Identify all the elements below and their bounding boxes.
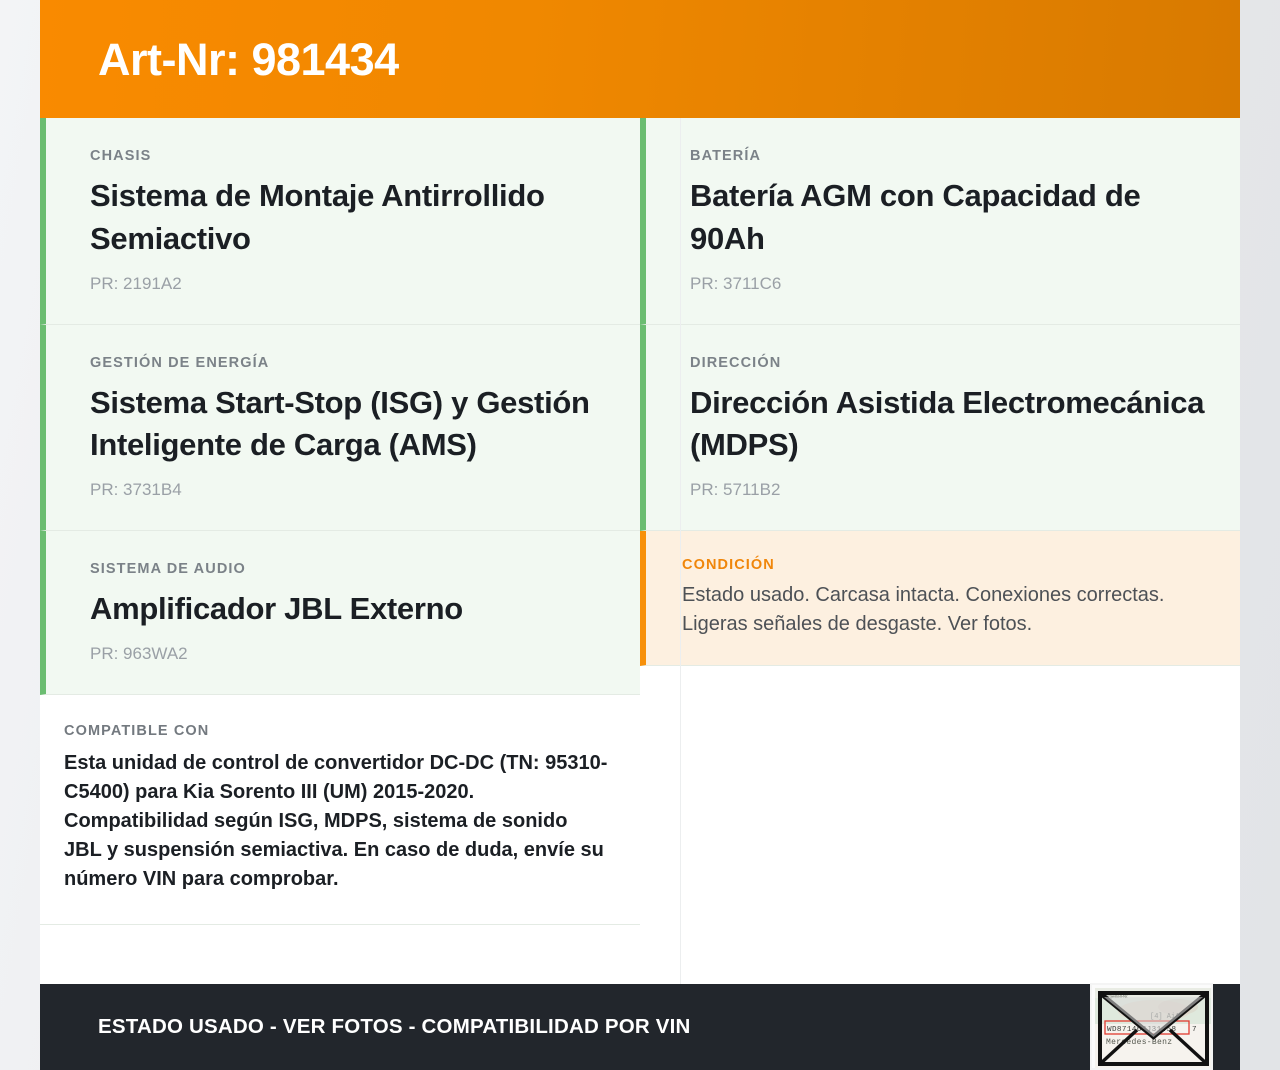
compatible-with-card[interactable]: COMPATIBLE CON Esta unidad de control de… <box>40 695 640 925</box>
spec-card-direccion[interactable]: DIRECCIÓN Dirección Asistida Electromecá… <box>640 325 1240 532</box>
footer-bar: ESTADO USADO - VER FOTOS - COMPATIBILIDA… <box>40 984 1240 1070</box>
footer-text: ESTADO USADO - VER FOTOS - COMPATIBILIDA… <box>98 1015 691 1039</box>
spec-title: Sistema de Montaje Antirrollido Semiacti… <box>90 175 606 261</box>
spec-title: Amplificador JBL Externo <box>90 588 606 631</box>
spec-label: DIRECCIÓN <box>690 355 1206 371</box>
spec-card-gestion-de-energia[interactable]: GESTIÓN DE ENERGÍA Sistema Start-Stop (I… <box>40 325 640 532</box>
spec-pr-code: PR: 5711B2 <box>690 480 1206 500</box>
condition-label: CONDICIÓN <box>682 557 1206 573</box>
spec-title: Sistema Start-Stop (ISG) y Gestión Intel… <box>90 382 606 468</box>
page-title: Art-Nr: 981434 <box>98 37 399 82</box>
condition-text: Estado usado. Carcasa intacta. Conexione… <box>682 581 1206 639</box>
spec-column-right: BATERÍA Batería AGM con Capacidad de 90A… <box>640 118 1240 666</box>
envelope-icon[interactable]: Fahrgestell-Nr. [4] AiA WD871463J31458 7… <box>1090 983 1213 1070</box>
spec-pr-code: PR: 963WA2 <box>90 644 606 664</box>
column-divider <box>680 118 681 984</box>
spec-grid: CHASIS Sistema de Montaje Antirrollido S… <box>40 118 1240 925</box>
spec-label: GESTIÓN DE ENERGÍA <box>90 355 606 371</box>
header-bar: Art-Nr: 981434 <box>40 0 1240 118</box>
spec-label: CHASIS <box>90 148 606 164</box>
spec-card-sistema-de-audio[interactable]: SISTEMA DE AUDIO Amplificador JBL Extern… <box>40 531 640 695</box>
spec-column-left: CHASIS Sistema de Montaje Antirrollido S… <box>40 118 640 925</box>
spec-label: SISTEMA DE AUDIO <box>90 561 606 577</box>
compatible-with-text: Esta unidad de control de convertidor DC… <box>64 749 610 894</box>
spec-label: BATERÍA <box>690 148 1206 164</box>
spec-pr-code: PR: 2191A2 <box>90 274 606 294</box>
spec-pr-code: PR: 3711C6 <box>690 274 1206 294</box>
spec-card-chasis[interactable]: CHASIS Sistema de Montaje Antirrollido S… <box>40 118 640 325</box>
listing-sheet: Art-Nr: 981434 CHASIS Sistema de Montaje… <box>40 0 1240 1070</box>
compatible-with-label: COMPATIBLE CON <box>64 723 610 739</box>
spec-card-bateria[interactable]: BATERÍA Batería AGM con Capacidad de 90A… <box>640 118 1240 325</box>
spec-title: Dirección Asistida Electromecánica (MDPS… <box>690 382 1206 468</box>
spec-title: Batería AGM con Capacidad de 90Ah <box>690 175 1206 261</box>
spec-pr-code: PR: 3731B4 <box>90 480 606 500</box>
page-root: Art-Nr: 981434 CHASIS Sistema de Montaje… <box>0 0 1280 1070</box>
condition-card[interactable]: CONDICIÓN Estado usado. Carcasa intacta.… <box>640 531 1240 666</box>
